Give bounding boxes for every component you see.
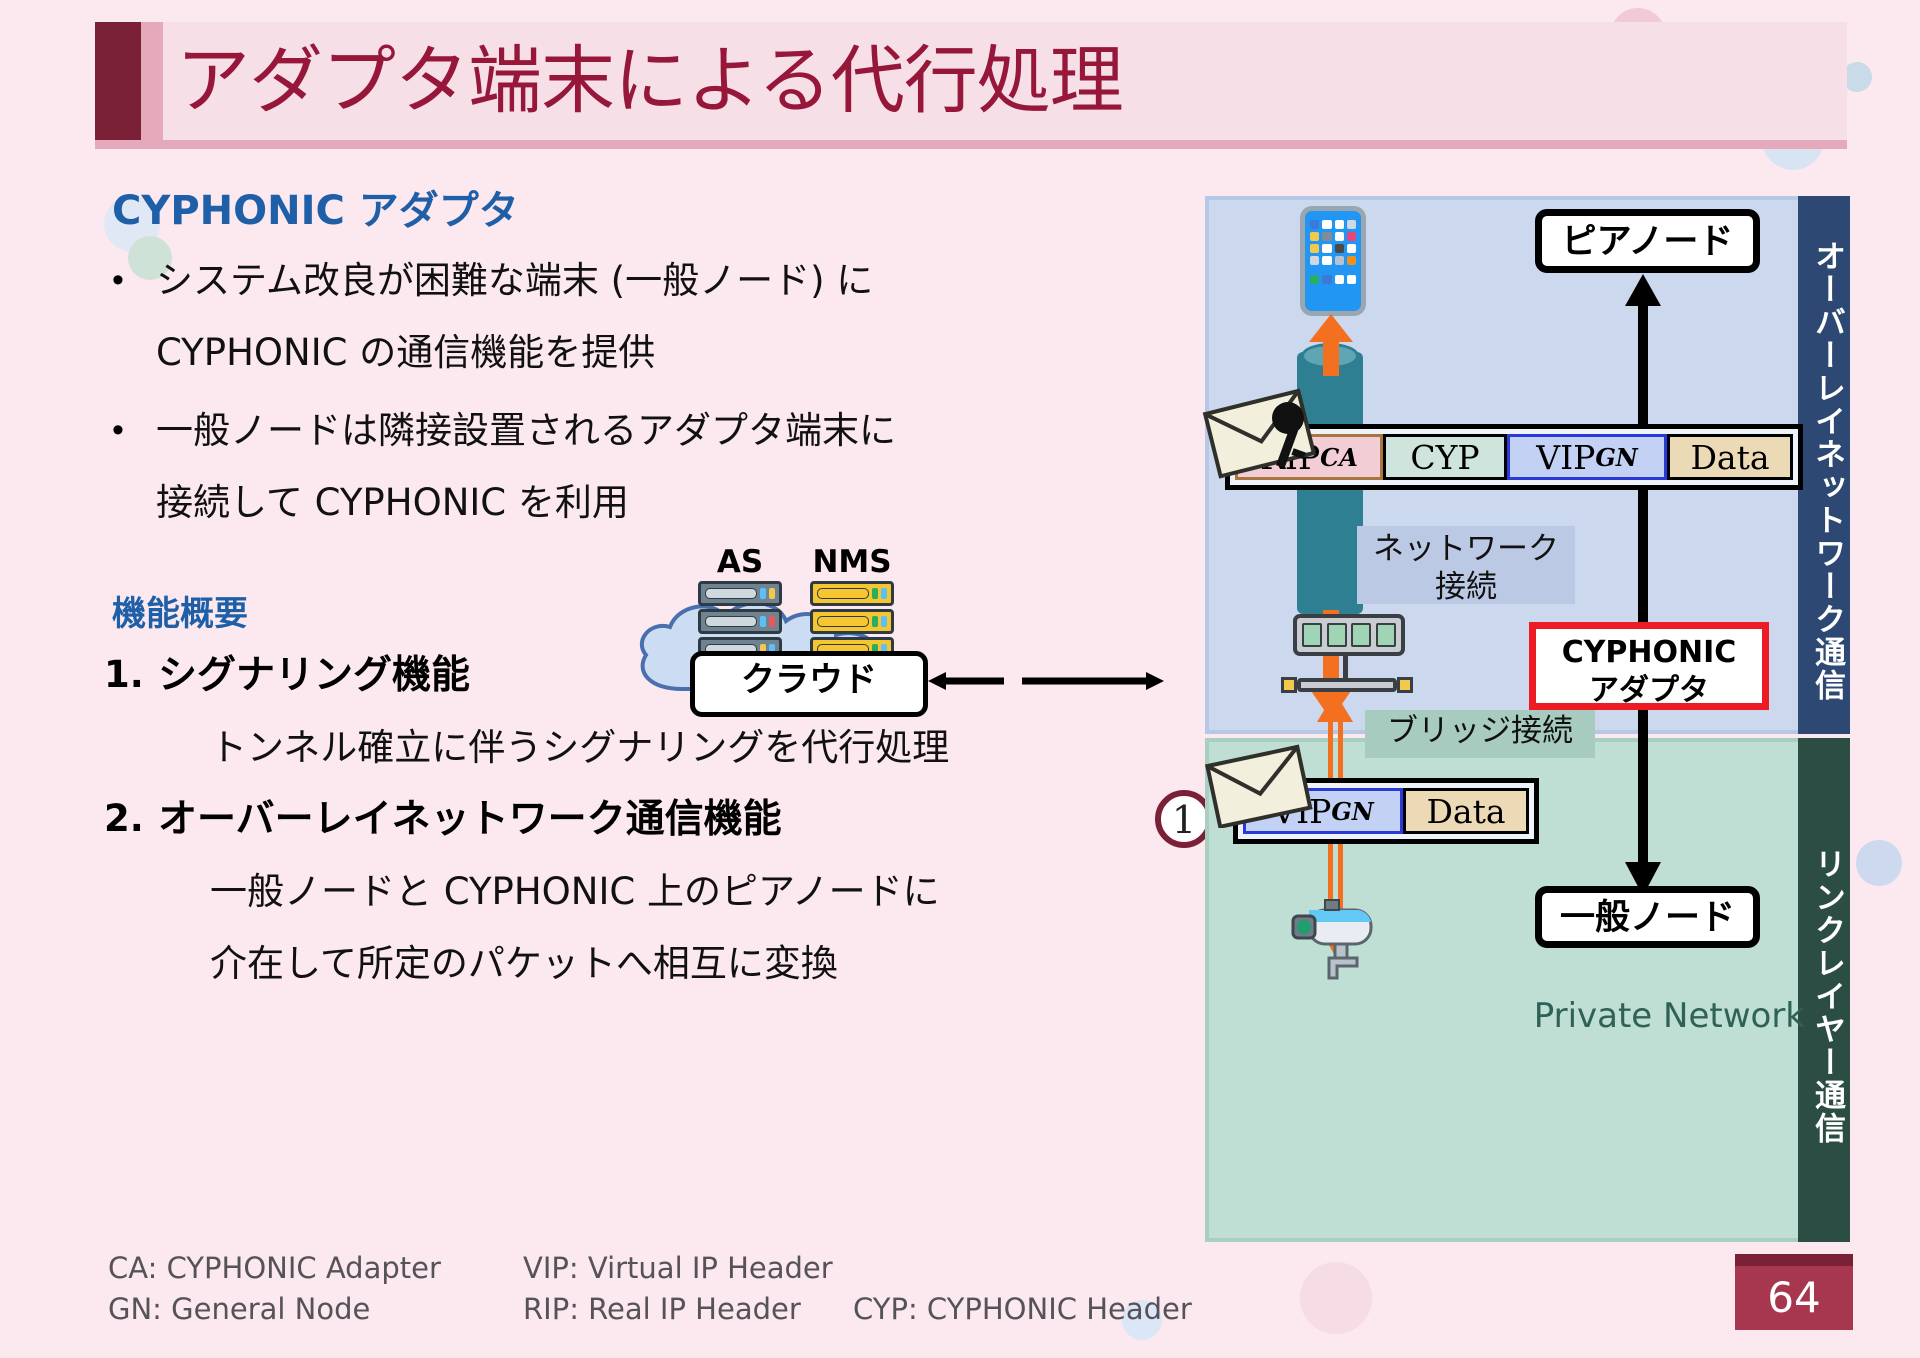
smartphone-icon [1300,206,1366,316]
network-connection-tag: ネットワーク 接続 [1357,526,1575,604]
bullet-line: 接続して CYPHONIC を利用 [156,467,896,539]
bullet-line: システム改良が困難な端末 (一般ノード) に [156,245,873,317]
numbered-desc: トンネル確立に伴うシグナリングを代行処理 [158,712,949,784]
nms-server: NMS [810,545,894,665]
page-number-bar [1735,1254,1853,1266]
private-network-label: Private Network [1505,996,1805,1036]
as-label: AS [698,545,782,579]
footnote-gn: GN: General Node [108,1289,523,1330]
list-item: • 一般ノードは隣接設置されるアダプタ端末に 接続して CYPHONIC を利用 [112,395,972,539]
title-underline [95,140,1847,149]
packet-field-cyp: CYP [1383,434,1507,480]
network-connection-line2: 接続 [1357,568,1575,606]
bullet-marker: • [112,245,156,315]
overlay-path-arrow-down [1623,796,1663,896]
footnotes: CA: CYPHONIC Adapter VIP: Virtual IP Hea… [108,1248,1192,1330]
footnote-ca: CA: CYPHONIC Adapter [108,1248,523,1289]
general-node-box: 一般ノード [1535,886,1760,948]
cloud-label: クラウド [690,651,928,717]
slide-root: アダプタ端末による代行処理 CYPHONIC アダプタ • システム改良が困難な… [0,0,1920,1358]
footnote-row: CA: CYPHONIC Adapter VIP: Virtual IP Hea… [108,1248,1192,1289]
as-server: AS [698,545,782,665]
footnote-row: GN: General Node RIP: Real IP Header CYP… [108,1289,1192,1330]
nms-label: NMS [810,545,894,579]
packet-field-name: Data [1426,792,1505,831]
bridge-connection-tag: ブリッジ接続 [1365,710,1595,758]
envelope-key-icon [1200,384,1322,480]
title-accent-bar-light [141,22,163,140]
footnote-cyp: CYP: CYPHONIC Header [853,1289,1192,1330]
title-accent-bar [95,22,141,140]
bus-endpoint-dot [1397,677,1413,693]
bullet-text: 一般ノードは隣接設置されるアダプタ端末に 接続して CYPHONIC を利用 [156,395,896,539]
architecture-diagram: オーバーレイネットワーク通信 リンクレイヤー通信 ピ [1205,196,1850,1242]
numbered-desc: 一般ノードと CYPHONIC 上のピアノードに [158,856,940,928]
security-camera-icon [1285,896,1395,982]
packet-field-sub: GN [1331,797,1373,826]
adapter-line2: アダプタ [1536,672,1762,710]
packet-field-sub: GN [1595,443,1637,472]
bullet-marker: • [112,395,156,465]
numbered-body: オーバーレイネットワーク通信機能 一般ノードと CYPHONIC 上のピアノード… [158,784,940,1000]
uplink-arrow-top [1305,314,1357,376]
link-layer-side-label: リンクレイヤー通信 [1798,738,1850,1242]
cloud-to-adapter-arrow [926,660,1166,702]
bullet-line: CYPHONIC の通信機能を提供 [156,317,873,389]
footnote-vip: VIP: Virtual IP Header [523,1248,853,1289]
packet-field-name: VIP [1536,438,1595,477]
server-rack-icon [698,581,782,662]
cyphonic-adapter-box: CYPHONIC アダプタ [1529,622,1769,710]
list-item: 2. オーバーレイネットワーク通信機能 一般ノードと CYPHONIC 上のピア… [104,784,1004,1000]
page-number: 64 [1735,1266,1853,1330]
bullet-text: システム改良が困難な端末 (一般ノード) に CYPHONIC の通信機能を提供 [156,245,873,389]
lead-heading: CYPHONIC アダプタ [112,178,519,236]
server-rack-icon [810,581,894,662]
switch-stem [1343,656,1348,678]
envelope-icon [1203,744,1313,828]
packet-field-sub: CA [1320,443,1358,472]
number-marker: 2. [104,784,158,854]
bullet-list: • システム改良が困難な端末 (一般ノード) に CYPHONIC の通信機能を… [112,245,972,545]
page-title: アダプタ端末による代行処理 [176,27,1123,135]
packet-field-name: Data [1690,438,1769,477]
numbered-desc: 介在して所定のパケットへ相互に変換 [158,928,940,1000]
decor-blob [1300,1262,1372,1334]
overlay-network-side-label: オーバーレイネットワーク通信 [1798,196,1850,734]
peer-node-box: ピアノード [1535,209,1760,273]
number-marker: 1. [104,640,158,710]
packet-field-name: CYP [1410,438,1479,477]
section-heading: 機能概要 [112,586,248,635]
list-item: • システム改良が困難な端末 (一般ノード) に CYPHONIC の通信機能を… [112,245,972,389]
packet-field-data: Data [1667,434,1793,480]
bullet-line: 一般ノードは隣接設置されるアダプタ端末に [156,395,896,467]
adapter-line1: CYPHONIC [1536,634,1762,672]
bus-endpoint-dot [1281,677,1297,693]
decor-blob [1856,840,1902,886]
network-switch-icon [1293,614,1405,656]
packet-field-data: Data [1403,788,1529,834]
numbered-title: オーバーレイネットワーク通信機能 [158,784,940,856]
network-connection-line1: ネットワーク [1357,530,1575,568]
switch-bus [1297,678,1397,692]
packet-field-vip: VIPGN [1507,434,1667,480]
footnote-rip: RIP: Real IP Header [523,1289,853,1330]
